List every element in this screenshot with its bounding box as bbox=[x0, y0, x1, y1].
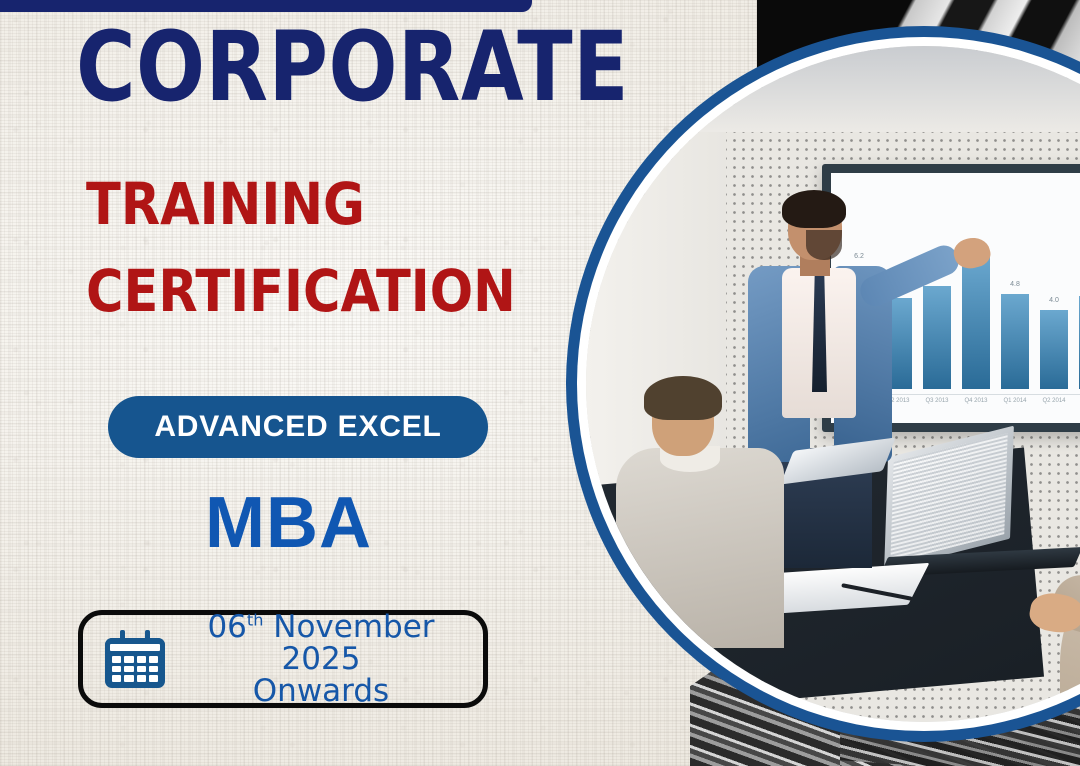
bar-chart-bar: 6.8 bbox=[962, 254, 990, 389]
date-month-year: November 2025 bbox=[273, 609, 434, 677]
calendar-day-cell bbox=[112, 675, 121, 682]
calendar-icon bbox=[105, 630, 165, 688]
calendar-day-cell bbox=[137, 675, 146, 682]
calendar-day-cell bbox=[112, 666, 121, 673]
bar-value-label: 4.8 bbox=[1010, 281, 1020, 288]
date-day-suffix: th bbox=[247, 610, 264, 629]
attendee-hair bbox=[644, 376, 722, 420]
program-label: MBA bbox=[205, 482, 372, 564]
photo-ring-inner-white: 6.24.65.26.84.84.04.77.65.84.65.2 Q1 201… bbox=[577, 37, 1080, 731]
calendar-day-cell bbox=[124, 675, 133, 682]
attendee-torso bbox=[616, 448, 784, 648]
poster-canvas: 6.24.65.26.84.84.04.77.65.84.65.2 Q1 201… bbox=[0, 0, 1080, 766]
date-box: 06th November 2025 Onwards bbox=[78, 610, 488, 708]
subtitle-training: TRAINING bbox=[86, 178, 365, 231]
course-badge: ADVANCED EXCEL bbox=[108, 396, 488, 458]
course-badge-label: ADVANCED EXCEL bbox=[154, 410, 441, 444]
ceiling bbox=[586, 46, 1080, 132]
presenter-beard bbox=[806, 230, 842, 260]
date-day: 06 bbox=[207, 609, 246, 645]
calendar-day-cell bbox=[112, 656, 121, 663]
bar-category-label: Q3 2013 bbox=[923, 398, 951, 405]
bar-category-label: Q4 2013 bbox=[962, 398, 990, 405]
hero-photo: 6.24.65.26.84.84.04.77.65.84.65.2 Q1 201… bbox=[586, 46, 1080, 722]
foreground-attendee bbox=[1040, 346, 1080, 722]
calendar-day-cell bbox=[149, 656, 158, 663]
photo-ring-border: 6.24.65.26.84.84.04.77.65.84.65.2 Q1 201… bbox=[566, 26, 1080, 742]
bar-value-label: 4.0 bbox=[1049, 297, 1059, 304]
calendar-day-cell bbox=[124, 666, 133, 673]
bar-category-label: Q1 2014 bbox=[1001, 398, 1029, 405]
calendar-day-cell bbox=[137, 666, 146, 673]
calendar-header-strip bbox=[110, 644, 160, 651]
calendar-day-cell bbox=[149, 666, 158, 673]
seated-attendee bbox=[616, 376, 786, 656]
bar-chart-bar: 5.2 bbox=[923, 286, 951, 389]
calendar-day-cell bbox=[149, 675, 158, 682]
calendar-day-cell bbox=[124, 656, 133, 663]
date-continuation: Onwards bbox=[181, 675, 461, 707]
bar-chart-bar: 4.8 bbox=[1001, 294, 1029, 389]
presenter-hair bbox=[782, 190, 846, 228]
subtitle-certification: CERTIFICATION bbox=[86, 265, 516, 318]
boardroom-scene: 6.24.65.26.84.84.04.77.65.84.65.2 Q1 201… bbox=[586, 46, 1080, 722]
date-text: 06th November 2025 Onwards bbox=[181, 611, 461, 708]
calendar-day-grid bbox=[112, 656, 158, 682]
calendar-day-cell bbox=[137, 656, 146, 663]
page-title: CORPORATE bbox=[76, 22, 629, 112]
